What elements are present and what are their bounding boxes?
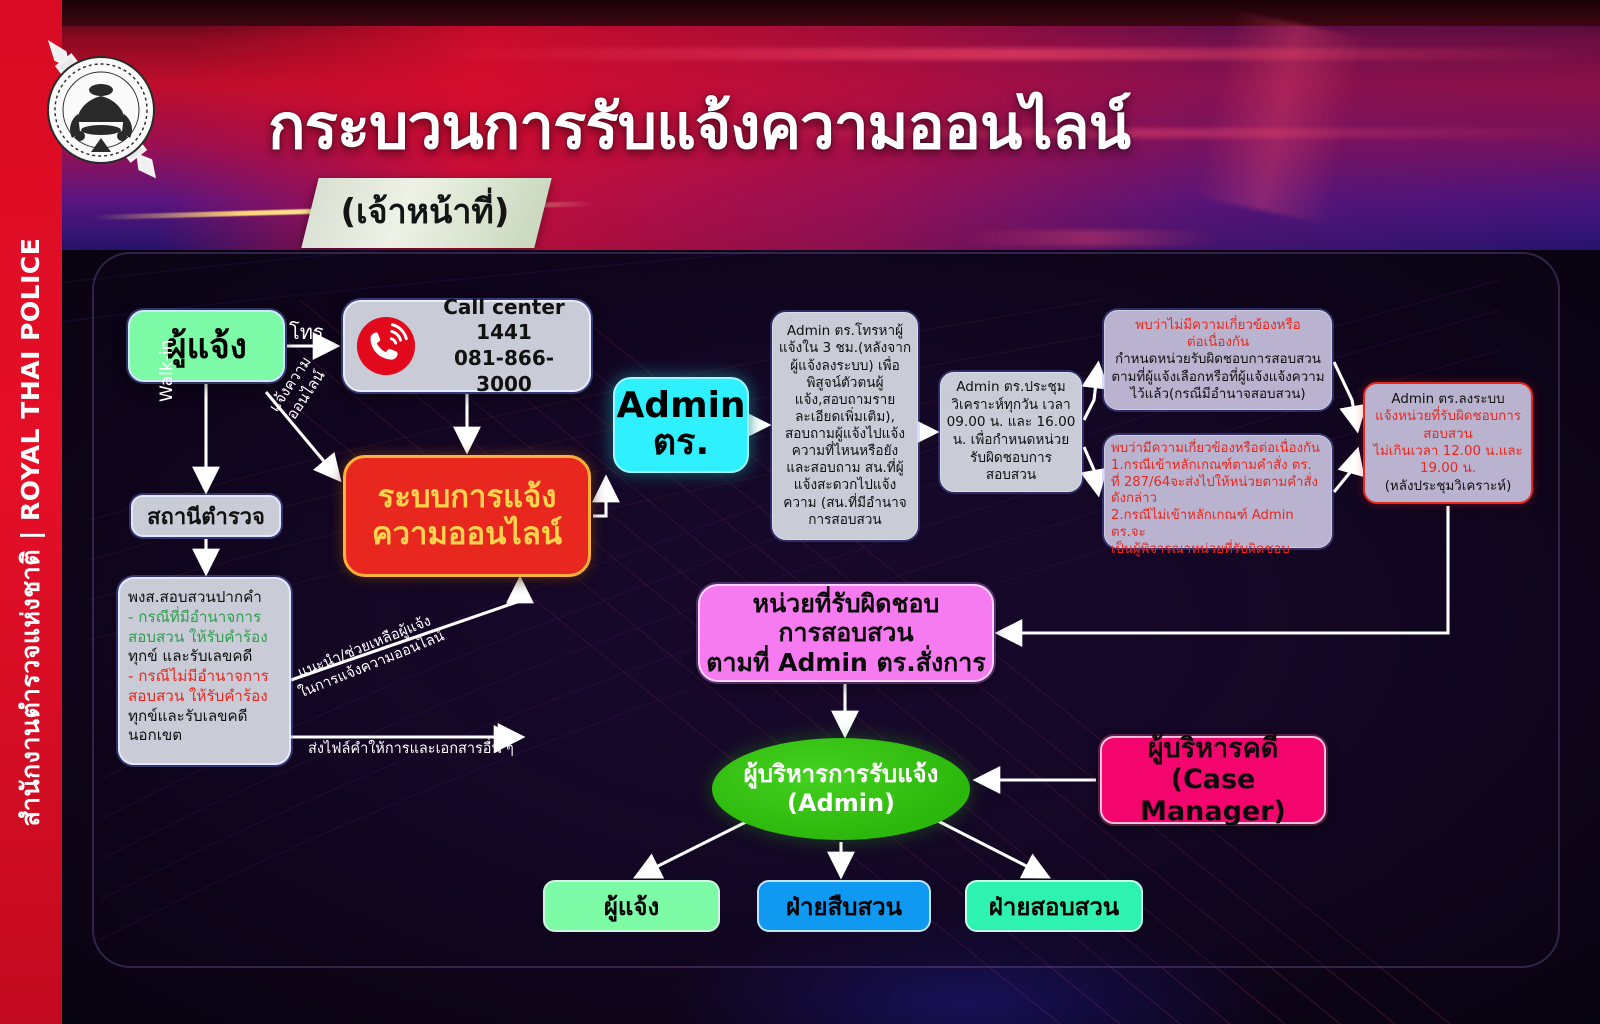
not-related-text: พบว่าไม่มีความเกี่ยวข้องหรือ ต่อเนื่องกั… bbox=[1111, 317, 1325, 403]
online-system-line2: ความออนไลน์ bbox=[346, 516, 588, 553]
investigator-line-7: ทุกข์และรับเลขคดี bbox=[128, 707, 281, 727]
node-police-station[interactable]: สถานีตำรวจ bbox=[131, 495, 281, 537]
inquiry-division-label: ฝ่ายสอบสวน bbox=[967, 887, 1141, 926]
node-investigator-statement[interactable]: พงส.สอบสวนปากคำ - กรณีที่มีอำนาจการ สอบส… bbox=[118, 577, 291, 765]
log-system-line5: 19.00 น. bbox=[1370, 460, 1526, 477]
responsible-unit-line3: ตามที่ Admin ตร.สั่งการ bbox=[700, 648, 992, 678]
investigator-line-3: สอบสวน ให้รับคำร้อง bbox=[128, 628, 281, 648]
responsible-unit-line1: หน่วยที่รับผิดชอบ bbox=[700, 589, 992, 619]
header-streak-4 bbox=[960, 230, 1220, 246]
log-system-line4: ไม่เกินเวลา 12.00 น.และ bbox=[1370, 443, 1526, 460]
online-system-text: ระบบการแจ้ง ความออนไลน์ bbox=[346, 479, 588, 552]
admin-police-line2: ตร. bbox=[615, 425, 747, 462]
case-manager-text: ผู้บริหารคดี (Case Manager) bbox=[1102, 733, 1324, 827]
not-related-body1: กำหนดหน่วยรับผิดชอบการสอบสวน bbox=[1111, 351, 1325, 368]
admin-police-text: Admin ตร. bbox=[615, 388, 747, 461]
node-bottom-reporter[interactable]: ผู้แจ้ง bbox=[543, 880, 720, 932]
related-line2: ที่ 287/64จะส่งไปให้หน่วยตามคำสั่ง bbox=[1111, 475, 1325, 492]
online-system-line1: ระบบการแจ้ง bbox=[346, 479, 588, 516]
investigator-line-8: นอกเขต bbox=[128, 726, 281, 746]
call-center-line3: 081-866-3000 bbox=[429, 346, 579, 397]
responsible-unit-line2: การสอบสวน bbox=[700, 618, 992, 648]
responsible-unit-text: หน่วยที่รับผิดชอบ การสอบสวน ตามที่ Admin… bbox=[700, 589, 992, 678]
node-call-center[interactable]: Call center 1441 081-866-3000 bbox=[343, 300, 591, 392]
admin-police-line1: Admin bbox=[615, 388, 747, 425]
call-center-text: Call center 1441 081-866-3000 bbox=[429, 295, 579, 397]
node-responsible-unit[interactable]: หน่วยที่รับผิดชอบ การสอบสวน ตามที่ Admin… bbox=[698, 584, 994, 682]
node-admin-call-procedure[interactable]: Admin ตร.โทรหาผู้แจ้งใน 3 ชม.(หลังจากผู้… bbox=[772, 312, 918, 540]
page-subtitle-plate: (เจ้าหน้าที่) bbox=[301, 178, 551, 248]
case-manager-line1: ผู้บริหารคดี bbox=[1102, 733, 1324, 764]
log-system-line2: แจ้งหน่วยที่รับผิดชอบการ bbox=[1370, 408, 1526, 425]
phone-ringing-icon bbox=[355, 315, 417, 377]
call-center-line1: Call center bbox=[429, 295, 579, 321]
investigator-line-6: สอบสวน ให้รับคำร้อง bbox=[128, 687, 281, 707]
admin-meeting-text: Admin ตร.ประชุมวิเคราะห์ทุกวัน เวลา 09.0… bbox=[946, 379, 1076, 485]
investigator-line-2: - กรณีที่มีอำนาจการ bbox=[128, 608, 281, 628]
investigator-text: พงส.สอบสวนปากคำ - กรณีที่มีอำนาจการ สอบส… bbox=[128, 588, 281, 746]
header-streak-1 bbox=[420, 48, 1600, 60]
log-system-line1: Admin ตร.ลงระบบ bbox=[1370, 391, 1526, 408]
node-inquiry-division[interactable]: ฝ่ายสอบสวน bbox=[965, 880, 1143, 932]
investigator-line-3a: สอบสวน ให้รับคำร้อง bbox=[128, 628, 268, 646]
node-admin-police[interactable]: Admin ตร. bbox=[613, 377, 749, 473]
bottom-reporter-label: ผู้แจ้ง bbox=[545, 887, 718, 926]
not-related-body2: ตามที่ผู้แจ้งเลือกหรือที่ผู้แจ้งแจ้งความ bbox=[1111, 369, 1325, 386]
node-reporter[interactable]: ผู้แจ้ง bbox=[128, 310, 285, 382]
related-line3: ดังกล่าว bbox=[1111, 491, 1325, 508]
edge-label-send-files: ส่งไฟล์คำให้การและเอกสารอื่น ๆ bbox=[308, 737, 514, 760]
sidebar-organization-label: สำนักงานตำรวจแห่งชาติ | ROYAL THAI POLIC… bbox=[11, 238, 51, 827]
node-admin-daily-meeting[interactable]: Admin ตร.ประชุมวิเคราะห์ทุกวัน เวลา 09.0… bbox=[940, 372, 1082, 492]
admin-manager-line2: (Admin) bbox=[712, 789, 970, 818]
related-head: พบว่ามีความเกี่ยวข้องหรือต่อเนื่องกัน bbox=[1111, 441, 1325, 458]
admin-manager-line1: ผู้บริหารการรับแจ้ง bbox=[712, 760, 970, 789]
header-banner: กระบวนการรับแจ้งความออนไลน์ (เจ้าหน้าที่… bbox=[0, 0, 1600, 250]
related-text: พบว่ามีความเกี่ยวข้องหรือต่อเนื่องกัน 1.… bbox=[1111, 441, 1325, 558]
page-title: กระบวนการรับแจ้งความออนไลน์ bbox=[268, 78, 1438, 176]
node-not-related-case[interactable]: พบว่าไม่มีความเกี่ยวข้องหรือ ต่อเนื่องกั… bbox=[1104, 310, 1332, 410]
node-police-station-label: สถานีตำรวจ bbox=[133, 499, 279, 534]
node-case-manager[interactable]: ผู้บริหารคดี (Case Manager) bbox=[1100, 736, 1326, 824]
node-online-report-system[interactable]: ระบบการแจ้ง ความออนไลน์ bbox=[343, 455, 591, 577]
related-line1: 1.กรณีเข้าหลักเกณฑ์ตามคำสั่ง ตร. bbox=[1111, 458, 1325, 475]
log-system-line6: (หลังประชุมวิเคราะห์) bbox=[1370, 478, 1526, 495]
not-related-head2: ต่อเนื่องกัน bbox=[1111, 334, 1325, 351]
edge-label-call: โทร bbox=[289, 316, 324, 348]
node-investigation-division[interactable]: ฝ่ายสืบสวน bbox=[757, 880, 931, 932]
royal-thai-police-emblem-icon bbox=[16, 18, 186, 198]
log-system-line3: สอบสวน bbox=[1370, 426, 1526, 443]
admin-manager-text: ผู้บริหารการรับแจ้ง (Admin) bbox=[712, 760, 970, 818]
page-subtitle: (เจ้าหน้าที่) bbox=[340, 184, 509, 238]
investigator-line-5: - กรณีไม่มีอำนาจการ bbox=[128, 667, 281, 687]
related-line5: เป็นผู้พิจารณาหน่วยที่รับผิดชอบ bbox=[1111, 542, 1325, 559]
investigator-line-1: พงส.สอบสวนปากคำ bbox=[128, 588, 281, 608]
case-manager-line2: (Case Manager) bbox=[1102, 764, 1324, 827]
not-related-head1: พบว่าไม่มีความเกี่ยวข้องหรือ bbox=[1111, 317, 1325, 334]
header-top-bar bbox=[0, 0, 1600, 26]
call-center-line2: 1441 bbox=[429, 320, 579, 346]
log-system-text: Admin ตร.ลงระบบ แจ้งหน่วยที่รับผิดชอบการ… bbox=[1370, 391, 1526, 496]
investigation-division-label: ฝ่ายสืบสวน bbox=[759, 887, 929, 926]
node-reporter-label: ผู้แจ้ง bbox=[130, 319, 283, 374]
node-admin-log-system[interactable]: Admin ตร.ลงระบบ แจ้งหน่วยที่รับผิดชอบการ… bbox=[1363, 382, 1533, 504]
investigator-line-4: ทุกข์ และรับเลขคดี bbox=[128, 647, 281, 667]
call-center-row: Call center 1441 081-866-3000 bbox=[345, 295, 589, 397]
node-related-case[interactable]: พบว่ามีความเกี่ยวข้องหรือต่อเนื่องกัน 1.… bbox=[1104, 435, 1332, 548]
edge-label-walk-in: Walk-in bbox=[157, 340, 177, 402]
not-related-body3: ไว้แล้ว(กรณีมีอำนาจสอบสวน) bbox=[1111, 386, 1325, 403]
admin-call-text: Admin ตร.โทรหาผู้แจ้งใน 3 ชม.(หลังจากผู้… bbox=[778, 323, 912, 529]
related-line4: 2.กรณีไม่เข้าหลักเกณฑ์ Admin ตร.จะ bbox=[1111, 508, 1325, 542]
investigator-line-6a: สอบสวน ให้รับคำร้อง bbox=[128, 687, 268, 705]
node-admin-manager[interactable]: ผู้บริหารการรับแจ้ง (Admin) bbox=[712, 738, 970, 840]
